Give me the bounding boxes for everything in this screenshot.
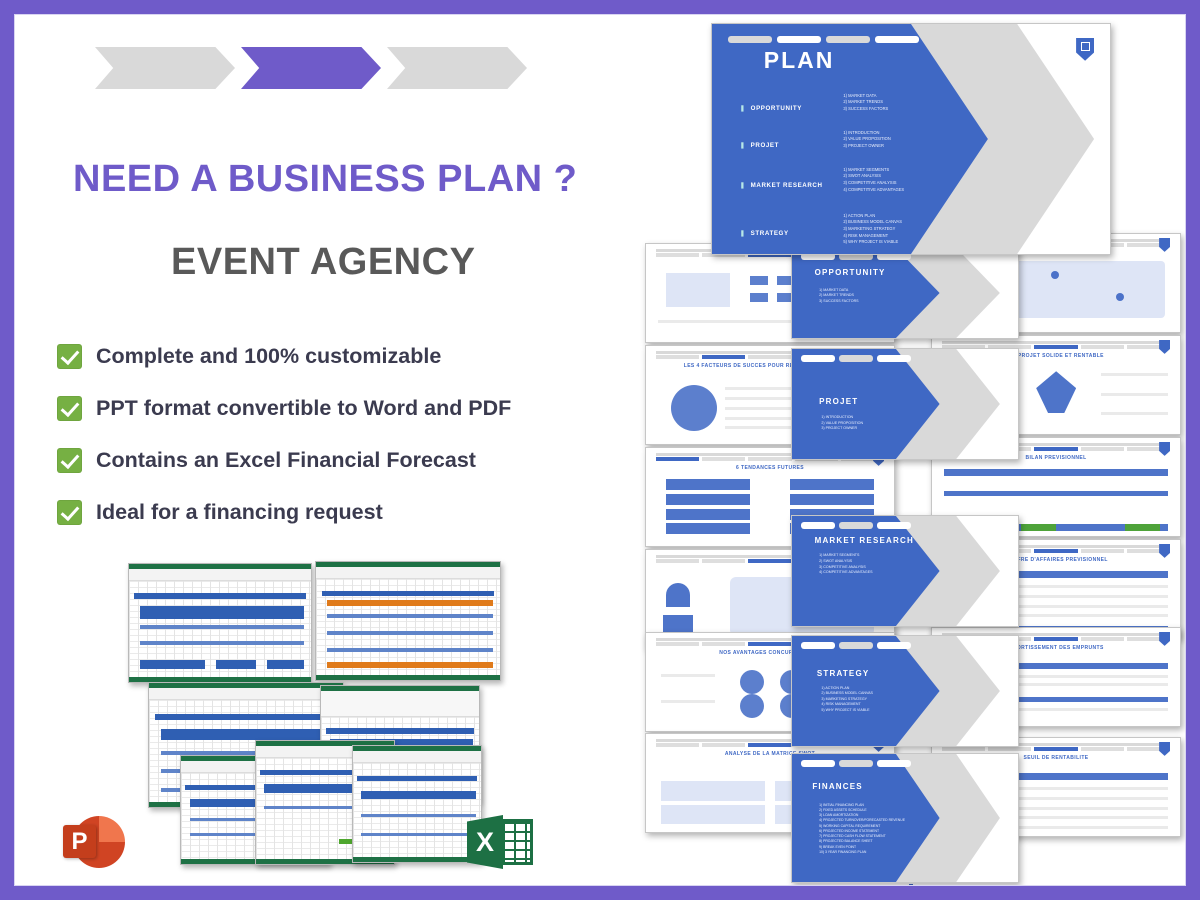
chevron-step-2[interactable] — [241, 47, 381, 89]
section-title: STRATEGY — [817, 669, 870, 678]
excel-letter: X — [467, 815, 503, 869]
excel-grid — [500, 819, 533, 865]
section-title: FINANCES — [812, 782, 863, 791]
section-slide-opportunity[interactable]: OPPORTUNITY 1) MARKET DATA 2) MARKET TRE… — [791, 247, 1019, 339]
page-title: NEED A BUSINESS PLAN ? — [73, 158, 577, 201]
section-title: PROJET — [819, 397, 858, 406]
section-item-list: 1) MARKET DATA 2) MARKET TRENDS 3) SUCCE… — [819, 288, 858, 305]
chevron-progress-strip — [95, 47, 527, 89]
list-item: Contains an Excel Financial Forecast — [57, 434, 627, 486]
section-title: MARKET RESEARCH — [815, 536, 914, 545]
slide-title: 6 TENDANCES FUTURES — [646, 465, 894, 471]
excel-icon: X — [467, 810, 535, 874]
feature-label: Ideal for a financing request — [96, 500, 383, 525]
list-item: Ideal for a financing request — [57, 486, 627, 538]
section-item-list: 1) ACTION PLAN 2) BUSINESS MODEL CANVAS … — [821, 686, 873, 714]
slide-deck-preview: LES 4 FACTEURS DE SUCCES POUR REUSSIR NO… — [631, 15, 1186, 886]
section-item-list: 1) INTRODUCTION 2) VALUE PROPOSITION 3) … — [821, 415, 863, 432]
slide-canvas-frame: NEED A BUSINESS PLAN ? EVENT AGENCY Comp… — [0, 0, 1200, 900]
feature-list: Complete and 100% customizable PPT forma… — [57, 330, 627, 538]
plan-sublist-projet: 1) INTRODUCTION 2) VALUE PROPOSITION 3) … — [843, 130, 890, 150]
excel-sheet-2 — [315, 561, 501, 681]
list-item: Complete and 100% customizable — [57, 330, 627, 382]
chevron-step-1[interactable] — [95, 47, 235, 89]
list-item: PPT format convertible to Word and PDF — [57, 382, 627, 434]
check-icon — [57, 344, 82, 369]
section-slide-strategy[interactable]: STRATEGY 1) ACTION PLAN 2) BUSINESS MODE… — [791, 635, 1019, 747]
plan-label-market-research: MARKET RESEARCH — [740, 182, 823, 189]
section-slide-market-research[interactable]: MARKET RESEARCH 1) MARKET SEGMENTS 2) SW… — [791, 515, 1019, 627]
check-icon — [57, 396, 82, 421]
section-item-list: 1) MARKET SEGMENTS 2) SWOT ANALYSIS 3) C… — [819, 553, 872, 575]
plan-label-opportunity: OPPORTUNITY — [740, 105, 802, 112]
excel-sheet-7 — [352, 745, 482, 863]
plan-sublist-finances: 1) INITIAL FINANCING PLAN 2) FIXED ASSET… — [843, 254, 947, 255]
powerpoint-icon: P — [63, 812, 125, 874]
plan-label-strategy: STRATEGY — [740, 230, 789, 237]
excel-sheet-1 — [128, 563, 312, 683]
feature-label: Contains an Excel Financial Forecast — [96, 448, 476, 473]
section-title: OPPORTUNITY — [815, 268, 886, 277]
excel-thumbnail-cluster — [120, 555, 520, 885]
plan-label-projet: PROJET — [740, 142, 779, 149]
section-slide-finances[interactable]: FINANCES 1) INITIAL FINANCING PLAN 2) FI… — [791, 753, 1019, 883]
plan-slide[interactable]: PLAN OPPORTUNITY 1) MARKET DATA 2) MARKE… — [711, 23, 1111, 255]
plan-sublist-strategy: 1) ACTION PLAN 2) BUSINESS MODEL CANVAS … — [843, 213, 902, 246]
section-item-list: 1) INITIAL FINANCING PLAN 2) FIXED ASSET… — [819, 803, 905, 856]
section-slide-projet[interactable]: PROJET 1) INTRODUCTION 2) VALUE PROPOSIT… — [791, 348, 1019, 460]
page-subtitle: EVENT AGENCY — [171, 241, 475, 284]
shield-icon — [1076, 38, 1094, 61]
powerpoint-letter: P — [63, 825, 96, 858]
check-icon — [57, 448, 82, 473]
chevron-step-3[interactable] — [387, 47, 527, 89]
plan-sublist-opportunity: 1) MARKET DATA 2) MARKET TRENDS 3) SUCCE… — [843, 93, 888, 113]
check-icon — [57, 500, 82, 525]
feature-label: PPT format convertible to Word and PDF — [96, 396, 511, 421]
plan-sublist-market-research: 1) MARKET SEGMENTS 2) SWOT ANALYSIS 3) C… — [843, 167, 904, 194]
plan-title: PLAN — [764, 47, 835, 74]
feature-label: Complete and 100% customizable — [96, 344, 441, 369]
promo-slide: NEED A BUSINESS PLAN ? EVENT AGENCY Comp… — [14, 14, 1186, 886]
